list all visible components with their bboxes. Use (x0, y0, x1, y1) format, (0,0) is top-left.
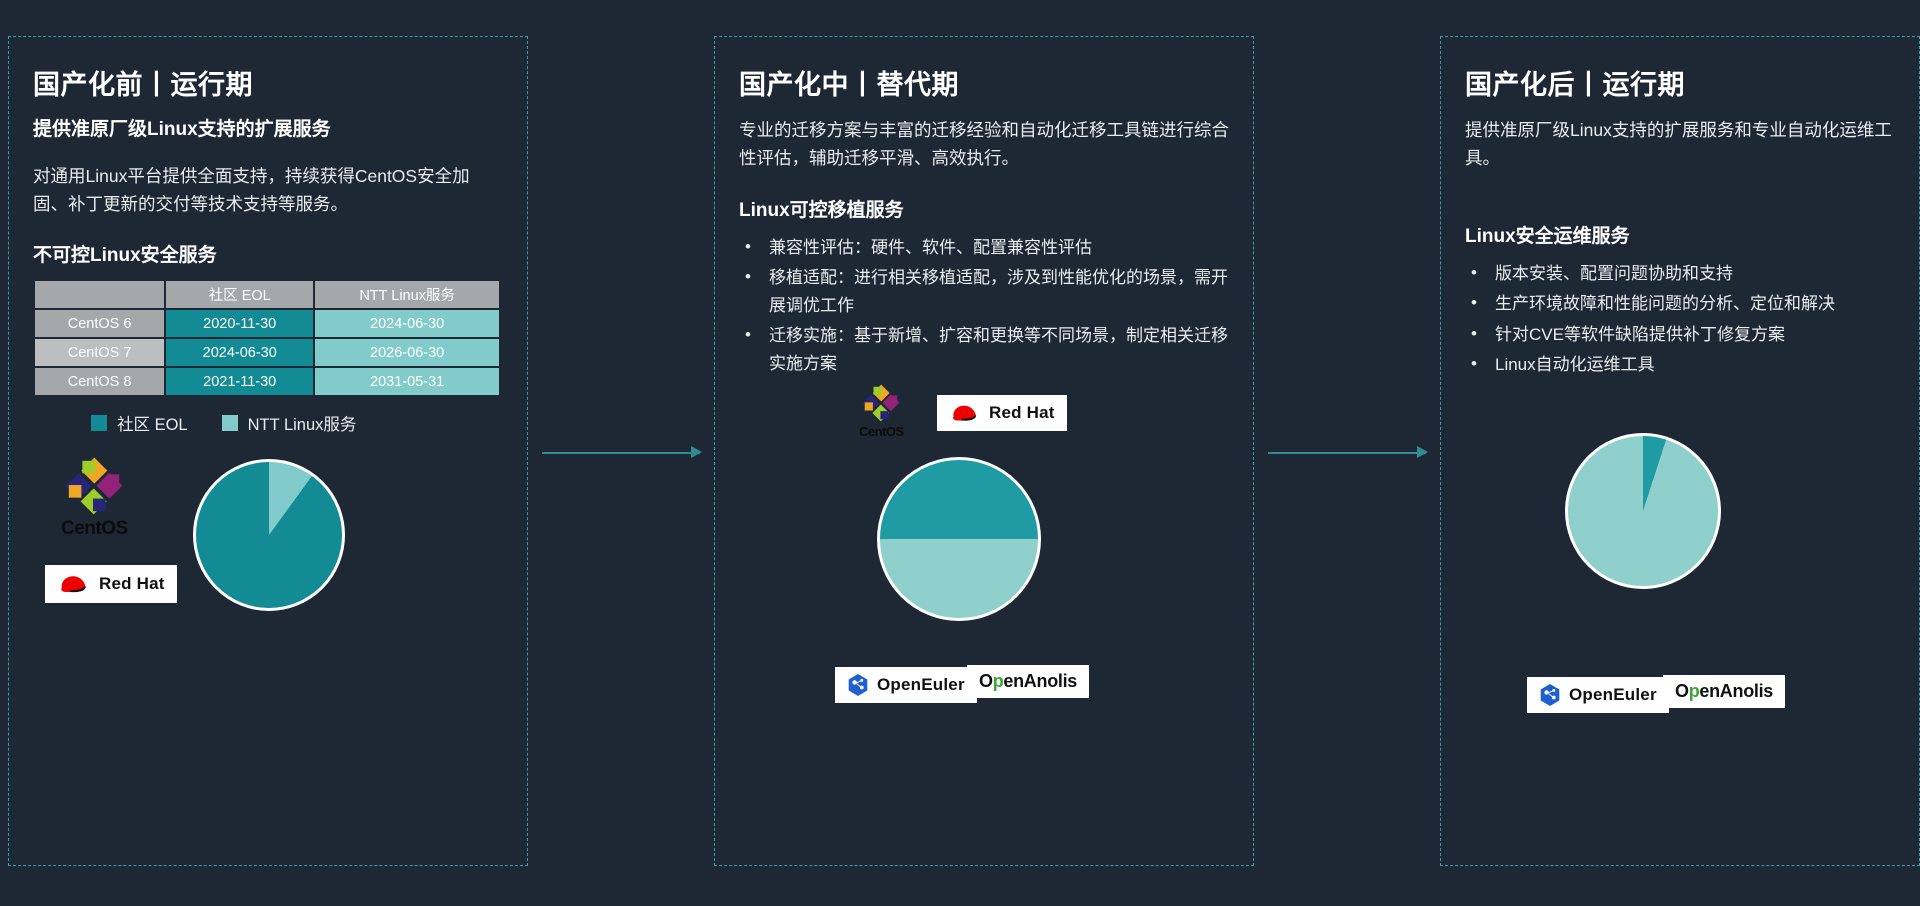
redhat-fedora-icon (949, 401, 981, 425)
legend-swatch-icon (91, 415, 107, 431)
arrow-line (1268, 452, 1426, 454)
panel-2-bullet-list: 兼容性评估：硬件、软件、配置兼容性评估 移植适配：进行相关移植适配，涉及到性能优… (739, 234, 1229, 378)
openanolis-rest: enAnolis (1003, 671, 1077, 691)
pie-chart-before (193, 459, 345, 611)
connector-2 (1254, 36, 1440, 866)
panel-2-section-head: Linux可控移植服务 (739, 195, 1229, 222)
panel-after-localization: 国产化后丨运行期 提供准原厂级Linux支持的扩展服务和专业自动化运维工具。 L… (1440, 36, 1920, 866)
openanolis-logo: OpenAnolis (1663, 675, 1785, 708)
eol-header-ntt: NTT Linux服务 (315, 281, 499, 308)
panel-3-description: 提供准原厂级Linux支持的扩展服务和专业自动化运维工具。 (1465, 116, 1895, 173)
eol-row-ntt: 2024-06-30 (315, 310, 499, 337)
list-item: 针对CVE等软件缺陷提供补丁修复方案 (1465, 321, 1895, 349)
panel-3-bullet-list: 版本安装、配置问题协助和支持 生产环境故障和性能问题的分析、定位和解决 针对CV… (1465, 260, 1895, 379)
panel-before-localization: 国产化前丨运行期 提供准原厂级Linux支持的扩展服务 对通用Linux平台提供… (8, 36, 528, 866)
eol-row-os: CentOS 8 (35, 368, 164, 395)
pie-chart-during (877, 457, 1041, 621)
legend-swatch-icon (222, 415, 238, 431)
eol-row-ntt: 2026-06-30 (315, 339, 499, 366)
eol-row-community: 2021-11-30 (166, 368, 313, 395)
eol-row-os: CentOS 7 (35, 339, 164, 366)
eol-row-community: 2024-06-30 (166, 339, 313, 366)
panel-1-description: 对通用Linux平台提供全面支持，持续获得CentOS安全加固、补丁更新的交付等… (33, 162, 503, 219)
openanolis-letter-p: p (1689, 681, 1700, 701)
openeuler-logo: OpenEuler (835, 667, 977, 703)
connector-1 (528, 36, 714, 866)
list-item: 迁移实施：基于新增、扩容和更换等不同场景，制定相关迁移实施方案 (739, 322, 1229, 377)
list-item: Linux自动化运维工具 (1465, 351, 1895, 379)
eol-row-community: 2020-11-30 (166, 310, 313, 337)
redhat-wordmark: Red Hat (989, 403, 1055, 423)
openanolis-rest: enAnolis (1699, 681, 1773, 701)
centos-wordmark: CentOS (859, 424, 904, 439)
openeuler-wordmark: OpenEuler (1569, 685, 1657, 705)
panel-2-description: 专业的迁移方案与丰富的迁移经验和自动化迁移工具链进行综合性评估，辅助迁移平滑、高… (739, 116, 1229, 173)
centos-icon (63, 455, 125, 517)
panel-1-artwork: CentOS Red Hat (33, 447, 503, 687)
arrow-head-icon (1417, 446, 1428, 458)
openanolis-letter-o: O (979, 671, 993, 691)
panel-3-title: 国产化后丨运行期 (1465, 63, 1895, 102)
table-header-row: 社区 EOL NTT Linux服务 (35, 281, 499, 308)
openeuler-wordmark: OpenEuler (877, 675, 965, 695)
openanolis-letter-o: O (1675, 681, 1689, 701)
legend-label: NTT Linux服务 (248, 411, 357, 435)
table-row: CentOS 7 2024-06-30 2026-06-30 (35, 339, 499, 366)
eol-row-ntt: 2031-05-31 (315, 368, 499, 395)
table-row: CentOS 6 2020-11-30 2024-06-30 (35, 310, 499, 337)
arrow-head-icon (691, 446, 702, 458)
openanolis-logo: OpenAnolis (967, 665, 1089, 698)
arrow-line (542, 452, 700, 454)
redhat-logo: Red Hat (937, 395, 1067, 431)
centos-logo: CentOS (859, 383, 904, 439)
panel-3-section-head: Linux安全运维服务 (1465, 221, 1895, 248)
centos-wordmark: CentOS (61, 518, 128, 540)
legend-label: 社区 EOL (117, 411, 188, 435)
list-item: 版本安装、配置问题协助和支持 (1465, 260, 1895, 288)
eol-row-os: CentOS 6 (35, 310, 164, 337)
list-item: 兼容性评估：硬件、软件、配置兼容性评估 (739, 234, 1229, 262)
centos-logo: CentOS (61, 455, 128, 540)
list-item: 生产环境故障和性能问题的分析、定位和解决 (1465, 290, 1895, 318)
pie-during-graphic (877, 457, 1041, 621)
openeuler-hex-icon (847, 673, 869, 697)
list-item: 移植适配：进行相关移植适配，涉及到性能优化的场景，需开展调优工作 (739, 264, 1229, 319)
panel-1-section-head: 不可控Linux安全服务 (33, 240, 503, 267)
pie-chart-after (1565, 433, 1721, 589)
legend-item-community-eol: 社区 EOL (91, 411, 188, 435)
migration-stage-board: 国产化前丨运行期 提供准原厂级Linux支持的扩展服务 对通用Linux平台提供… (0, 0, 1920, 906)
pie-before-graphic (193, 459, 345, 611)
chart-legend: 社区 EOL NTT Linux服务 (91, 411, 503, 435)
eol-header-blank (35, 281, 164, 308)
pie-after-graphic (1565, 433, 1721, 589)
panel-1-subtitle: 提供准原厂级Linux支持的扩展服务 (33, 116, 503, 144)
table-row: CentOS 8 2021-11-30 2031-05-31 (35, 368, 499, 395)
redhat-wordmark: Red Hat (99, 574, 165, 594)
panel-3-artwork: OpenEuler OpenAnolis (1465, 413, 1895, 673)
panel-during-localization: 国产化中丨替代期 专业的迁移方案与丰富的迁移经验和自动化迁移工具链进行综合性评估… (714, 36, 1254, 866)
openanolis-letter-p: p (993, 671, 1004, 691)
eol-table: 社区 EOL NTT Linux服务 CentOS 6 2020-11-30 2… (33, 279, 501, 397)
eol-header-community: 社区 EOL (166, 281, 313, 308)
redhat-logo: Red Hat (45, 565, 177, 603)
centos-icon (861, 383, 901, 423)
legend-item-ntt-service: NTT Linux服务 (222, 411, 357, 435)
panel-2-title: 国产化中丨替代期 (739, 63, 1229, 102)
openanolis-wordmark: OpenAnolis (979, 671, 1077, 692)
panel-2-artwork: CentOS Red Hat (739, 391, 1229, 651)
openanolis-wordmark: OpenAnolis (1675, 681, 1773, 702)
redhat-fedora-icon (57, 571, 91, 597)
openeuler-hex-icon (1539, 683, 1561, 707)
panel-1-title: 国产化前丨运行期 (33, 63, 503, 102)
openeuler-logo: OpenEuler (1527, 677, 1669, 713)
